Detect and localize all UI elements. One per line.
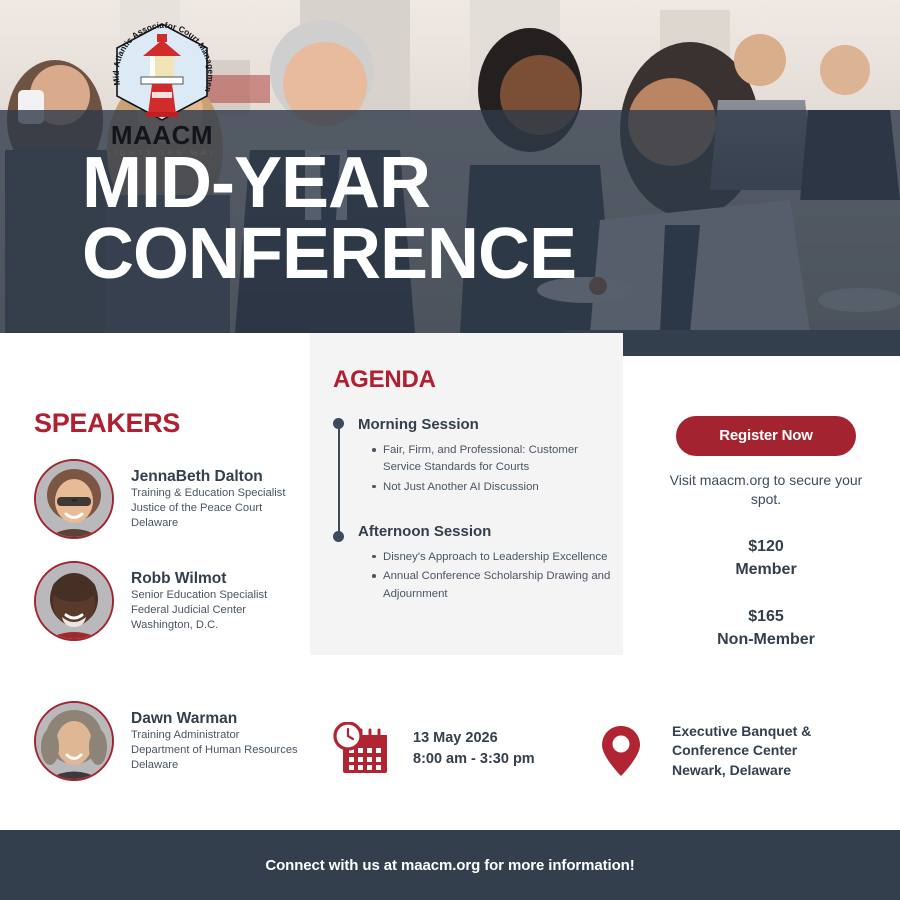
agenda-session-morning: Morning Session Fair, Firm, and Professi…: [333, 416, 613, 496]
title-line-2: CONFERENCE: [82, 219, 842, 290]
member-price: $120: [660, 535, 872, 558]
event-venue-row: Executive Banquet & Conference Center Ne…: [600, 722, 811, 780]
agenda-timeline: [333, 418, 345, 543]
speaker-info: Dawn Warman Training Administrator Depar…: [131, 701, 298, 773]
registration-section: Register Now Visit maacm.org to secure y…: [660, 416, 872, 652]
speaker-location: Delaware: [131, 516, 285, 531]
speaker-info: Robb Wilmot Senior Education Specialist …: [131, 561, 267, 633]
registration-subtext: Visit maacm.org to secure your spot.: [660, 471, 872, 509]
event-date-row: 13 May 2026 8:00 am - 3:30 pm: [333, 722, 535, 776]
event-date: 13 May 2026: [413, 728, 535, 749]
avatar: [34, 701, 114, 781]
speaker-name: Dawn Warman: [131, 709, 298, 728]
location-pin-icon: [600, 724, 642, 778]
venue-line-2: Conference Center: [672, 741, 811, 760]
register-now-button[interactable]: Register Now: [676, 416, 856, 456]
timeline-dot-morning: [333, 418, 344, 429]
session-title: Morning Session: [358, 416, 613, 433]
event-venue-text: Executive Banquet & Conference Center Ne…: [672, 722, 811, 780]
venue-line-1: Executive Banquet &: [672, 722, 811, 741]
conference-flyer: Mid-Atlantic Association for Court Manag…: [0, 0, 900, 900]
footer-text: Connect with us at maacm.org for more in…: [265, 857, 634, 874]
speaker-title: Training Administrator: [131, 728, 298, 743]
speaker-name: JennaBeth Dalton: [131, 467, 285, 486]
nonmember-price: $165: [660, 605, 872, 628]
agenda-heading: AGENDA: [333, 366, 613, 394]
member-price-block: $120 Member: [660, 535, 872, 581]
timeline-line: [338, 424, 340, 537]
session-item: Annual Conference Scholarship Drawing an…: [372, 568, 613, 603]
hero-banner: Mid-Atlantic Association for Court Manag…: [0, 0, 900, 333]
avatar: [34, 459, 114, 539]
speakers-heading: SPEAKERS: [34, 408, 334, 439]
speaker-info: JennaBeth Dalton Training & Education Sp…: [131, 459, 285, 531]
session-item-list: Fair, Firm, and Professional: Customer S…: [372, 442, 613, 496]
member-label: Member: [660, 558, 872, 581]
nonmember-price-block: $165 Non-Member: [660, 605, 872, 651]
venue-line-3: Newark, Delaware: [672, 761, 811, 780]
speaker-org: Department of Human Resources: [131, 743, 298, 758]
session-item-list: Disney's Approach to Leadership Excellen…: [372, 549, 613, 603]
agenda-section: AGENDA Morning Session Fair, Firm, and P…: [333, 366, 613, 605]
footer-bar: Connect with us at maacm.org for more in…: [0, 830, 900, 900]
session-title: Afternoon Session: [358, 523, 613, 540]
avatar: [34, 561, 114, 641]
page-title: MID-YEAR CONFERENCE: [82, 148, 842, 289]
timeline-dot-afternoon: [333, 531, 344, 542]
lighthouse-hex-icon: Mid-Atlantic Association for Court Manag…: [97, 18, 227, 124]
calendar-clock-icon: [333, 722, 391, 776]
agenda-session-afternoon: Afternoon Session Disney's Approach to L…: [333, 523, 613, 603]
maacm-logo: Mid-Atlantic Association for Court Manag…: [97, 18, 227, 146]
speaker-org: Federal Judicial Center: [131, 603, 267, 618]
session-item: Not Just Another AI Discussion: [372, 479, 613, 496]
speakers-section: SPEAKERS JennaBeth Dalton Training & Edu…: [34, 408, 334, 803]
nonmember-label: Non-Member: [660, 628, 872, 651]
session-item: Fair, Firm, and Professional: Customer S…: [372, 442, 613, 477]
event-time: 8:00 am - 3:30 pm: [413, 749, 535, 770]
speaker-location: Delaware: [131, 758, 298, 773]
speaker-card: Robb Wilmot Senior Education Specialist …: [34, 561, 334, 641]
speaker-card: JennaBeth Dalton Training & Education Sp…: [34, 459, 334, 539]
speaker-title: Senior Education Specialist: [131, 588, 267, 603]
speaker-card: Dawn Warman Training Administrator Depar…: [34, 701, 334, 781]
speaker-location: Washington, D.C.: [131, 618, 267, 633]
speaker-org: Justice of the Peace Court: [131, 501, 285, 516]
session-item: Disney's Approach to Leadership Excellen…: [372, 549, 613, 566]
speaker-title: Training & Education Specialist: [131, 486, 285, 501]
speaker-name: Robb Wilmot: [131, 569, 267, 588]
event-date-text: 13 May 2026 8:00 am - 3:30 pm: [413, 728, 535, 769]
title-line-1: MID-YEAR: [82, 143, 430, 223]
